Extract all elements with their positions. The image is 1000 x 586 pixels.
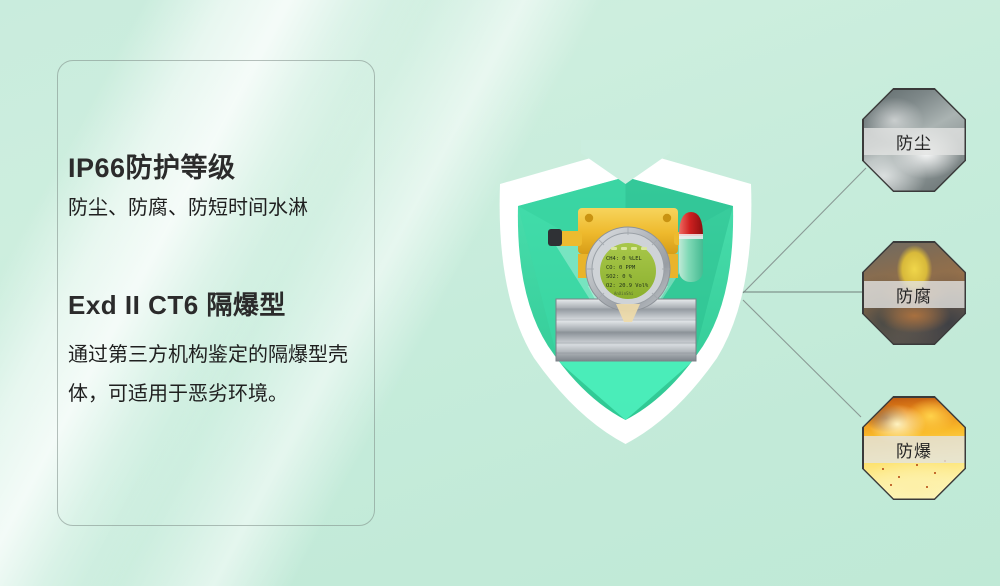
feature-panel: IP66防护等级 防尘、防腐、防短时间水淋 Exd II CT6 隔爆型 通过第… xyxy=(0,0,1000,586)
badge-label-dustproof: 防尘 xyxy=(864,128,965,155)
exd-heading: Exd II CT6 隔爆型 xyxy=(68,285,368,322)
info-card: IP66防护等级 防尘、防腐、防短时间水淋 Exd II CT6 隔爆型 通过第… xyxy=(57,60,375,526)
feature-block-ip66: IP66防护等级 防尘、防腐、防短时间水淋 xyxy=(68,153,368,223)
feature-block-exd: Exd II CT6 隔爆型 通过第三方机构鉴定的隔爆型壳体，可适用于恶劣环境。 xyxy=(68,285,368,414)
exd-body: 通过第三方机构鉴定的隔爆型壳体，可适用于恶劣环境。 xyxy=(68,336,373,414)
ip66-heading: IP66防护等级 xyxy=(68,153,368,184)
lcd-line-2: CO: 0 PPM xyxy=(606,265,636,271)
alarm-beacon xyxy=(679,212,703,282)
badge-label-anticorrosion: 防腐 xyxy=(864,281,965,308)
lcd-line-4: O2: 20.9 Vol% xyxy=(606,283,649,289)
lcd-line-1: CH4: 0 %LEL xyxy=(606,256,642,262)
badge-label-explosionproof: 防爆 xyxy=(864,436,965,463)
badge-image-fire: 防爆 xyxy=(864,398,965,499)
info-card-content: IP66防护等级 防尘、防腐、防短时间水淋 Exd II CT6 隔爆型 通过第… xyxy=(68,153,368,414)
lcd-brand: AnXinShi xyxy=(614,291,634,296)
ip66-subtitle: 防尘、防腐、防短时间水淋 xyxy=(68,193,368,223)
gas-detector-device: CH4: 0 %LEL CO: 0 PPM SO2: 0 % O2: 20.9 … xyxy=(548,196,713,371)
badge-image-rust: 防腐 xyxy=(864,243,965,344)
lcd-line-3: SO2: 0 % xyxy=(606,274,633,280)
badge-anticorrosion[interactable]: 防腐 xyxy=(862,241,966,345)
badge-explosionproof[interactable]: 防爆 xyxy=(862,396,966,500)
badge-image-dust: 防尘 xyxy=(864,90,965,191)
badge-dustproof[interactable]: 防尘 xyxy=(862,88,966,192)
